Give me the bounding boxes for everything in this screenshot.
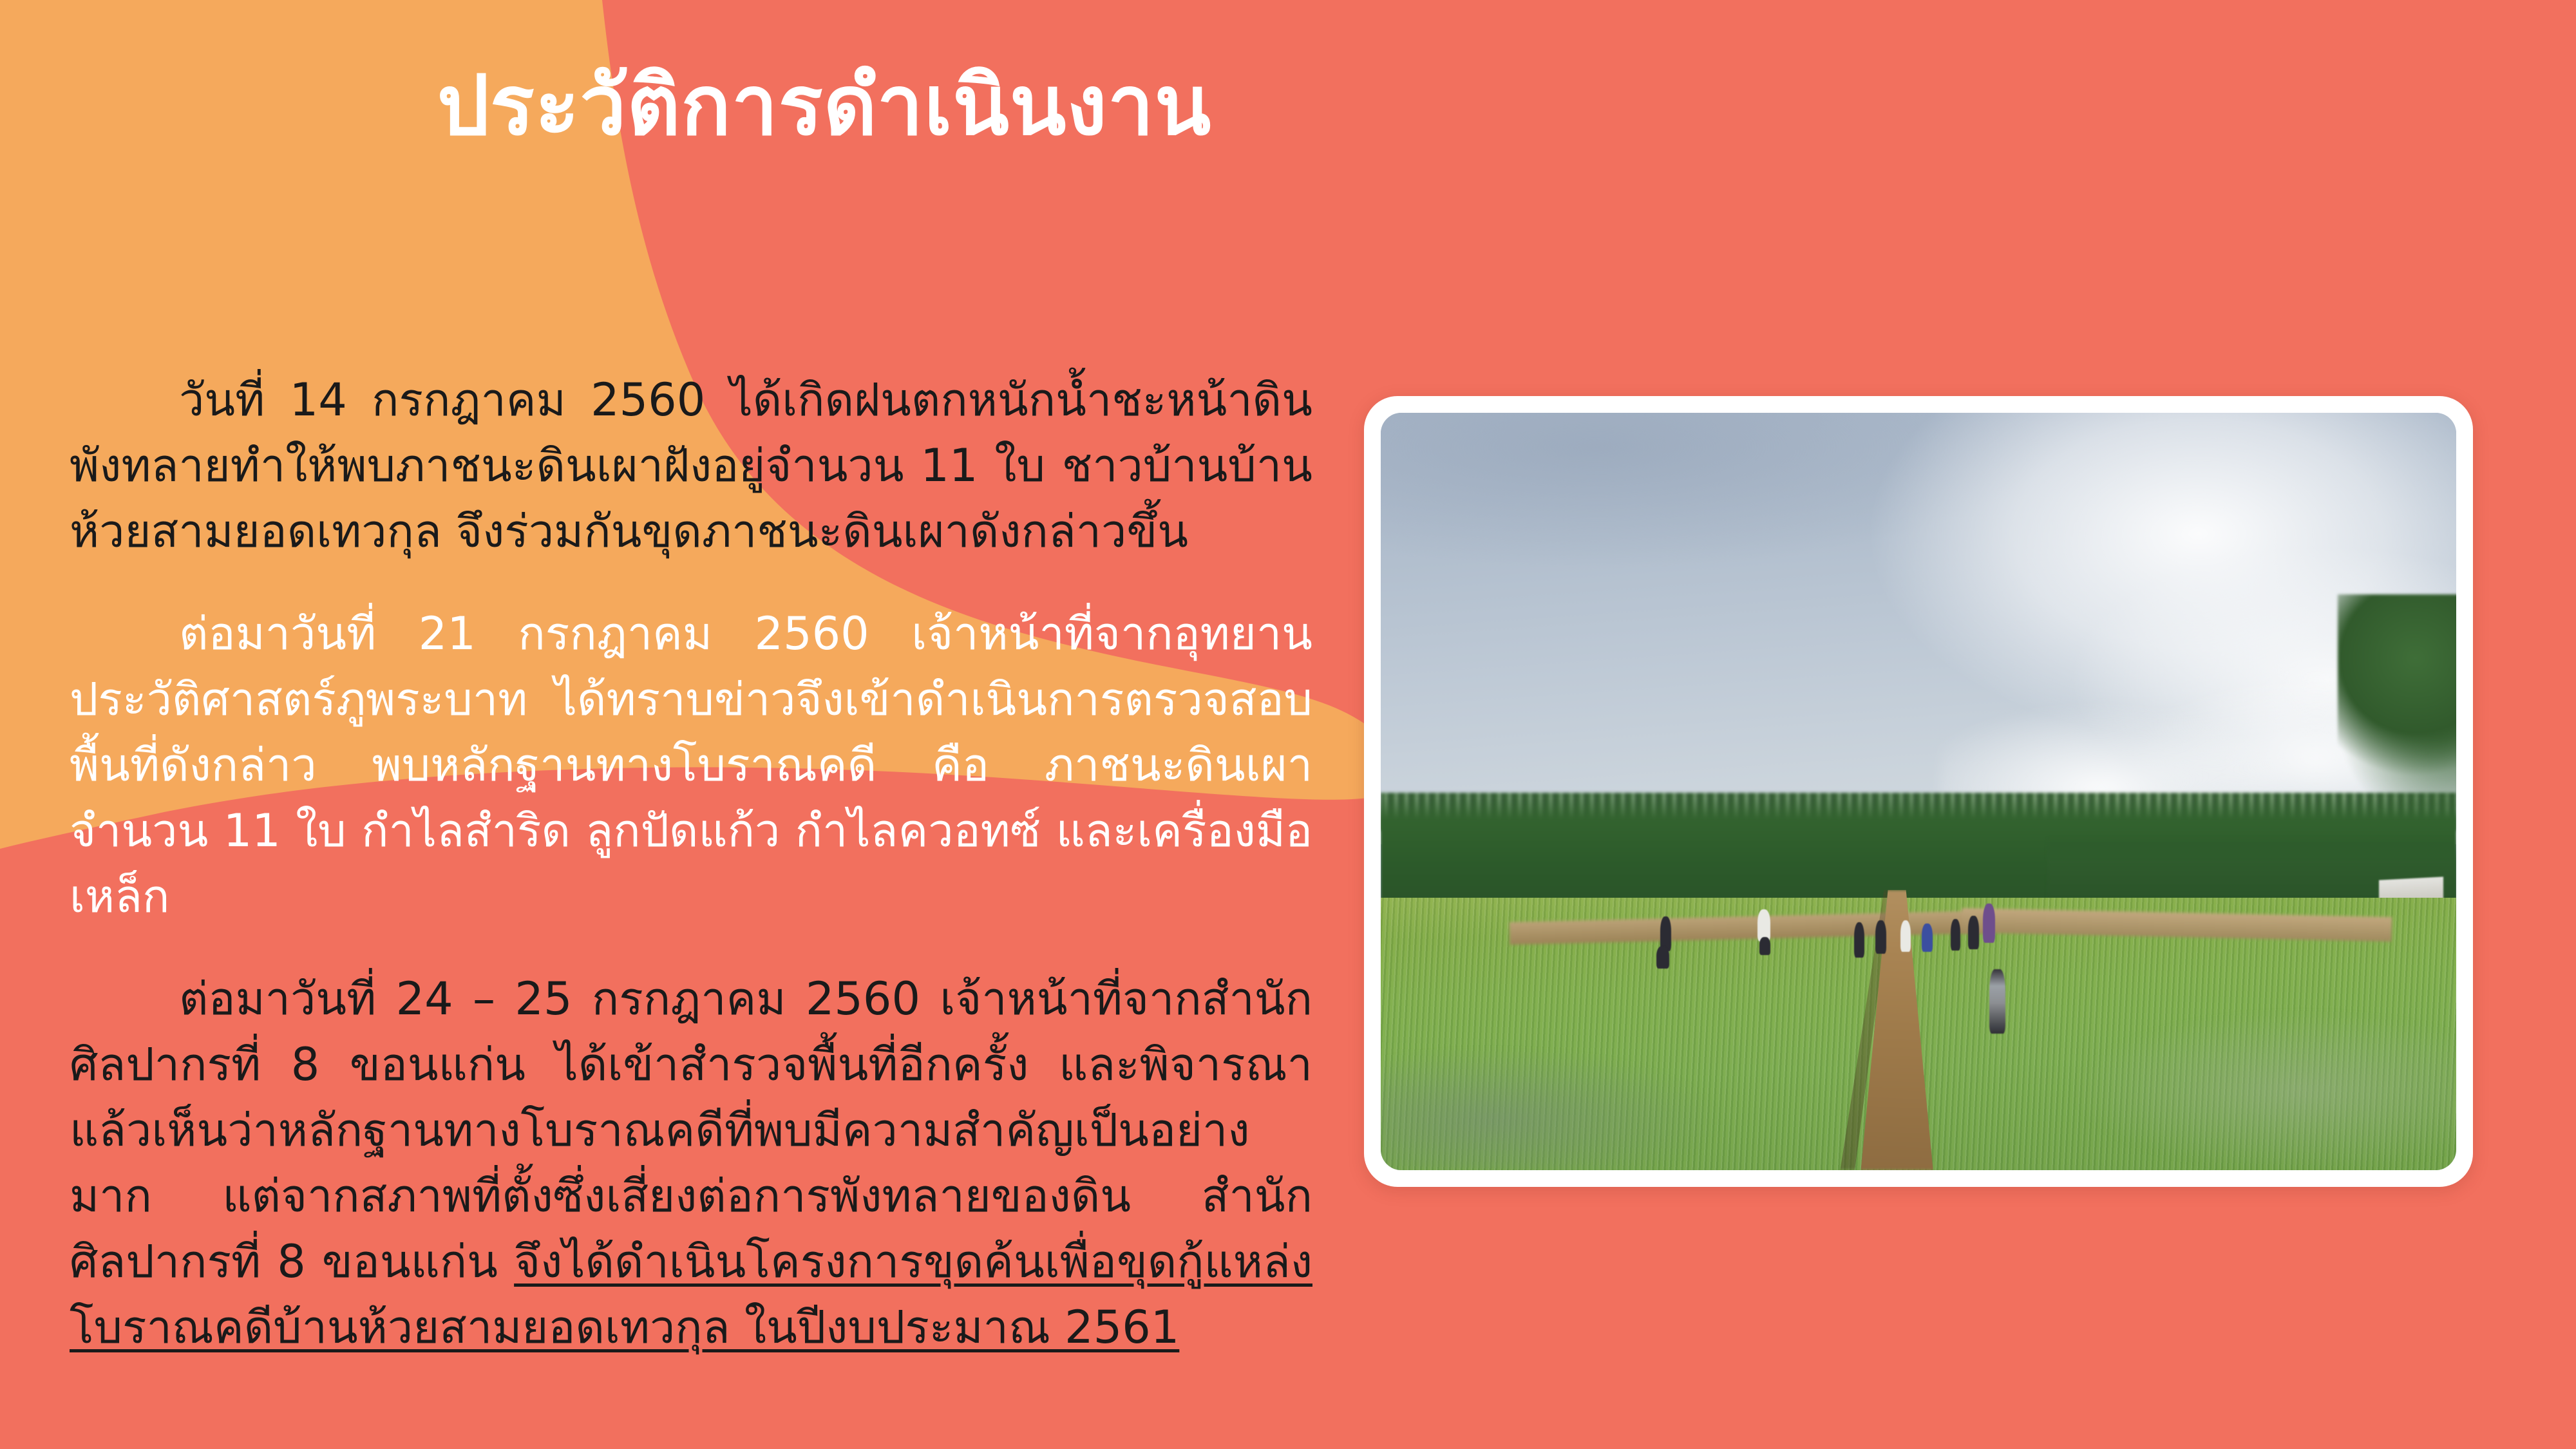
photo-person bbox=[1968, 916, 1979, 949]
paragraph-2: ต่อมาวันที่ 21 กรกฎาคม 2560 เจ้าหน้าที่จ… bbox=[70, 601, 1312, 930]
slide-canvas: ประวัติการดำเนินงาน วันที่ 14 กรกฎาคม 25… bbox=[0, 0, 2576, 1449]
photo-foreground-tree bbox=[2338, 594, 2456, 806]
photo-person bbox=[1900, 920, 1911, 952]
photo-person bbox=[1759, 937, 1770, 955]
photo-frame bbox=[1364, 396, 2473, 1187]
photo-person bbox=[1656, 946, 1669, 969]
photo-person bbox=[1875, 920, 1886, 954]
photo-water-right bbox=[1940, 973, 2456, 1170]
body-text-block: วันที่ 14 กรกฎาคม 2560 ได้เกิดฝนตกหนักน้… bbox=[70, 367, 1312, 1361]
photo-person-foreground bbox=[1989, 969, 2005, 1034]
page-title: ประวัติการดำเนินงาน bbox=[0, 61, 1649, 152]
photo-person bbox=[1983, 904, 1994, 943]
photo-water-left bbox=[1381, 1003, 1832, 1170]
photo-person bbox=[1951, 919, 1960, 951]
paragraph-3: ต่อมาวันที่ 24 – 25 กรกฎาคม 2560 เจ้าหน้… bbox=[70, 966, 1312, 1361]
photo-person bbox=[1922, 923, 1933, 952]
field-survey-photo bbox=[1381, 413, 2456, 1170]
paragraph-1: วันที่ 14 กรกฎาคม 2560 ได้เกิดฝนตกหนักน้… bbox=[70, 367, 1312, 565]
photo-person bbox=[1854, 922, 1865, 957]
